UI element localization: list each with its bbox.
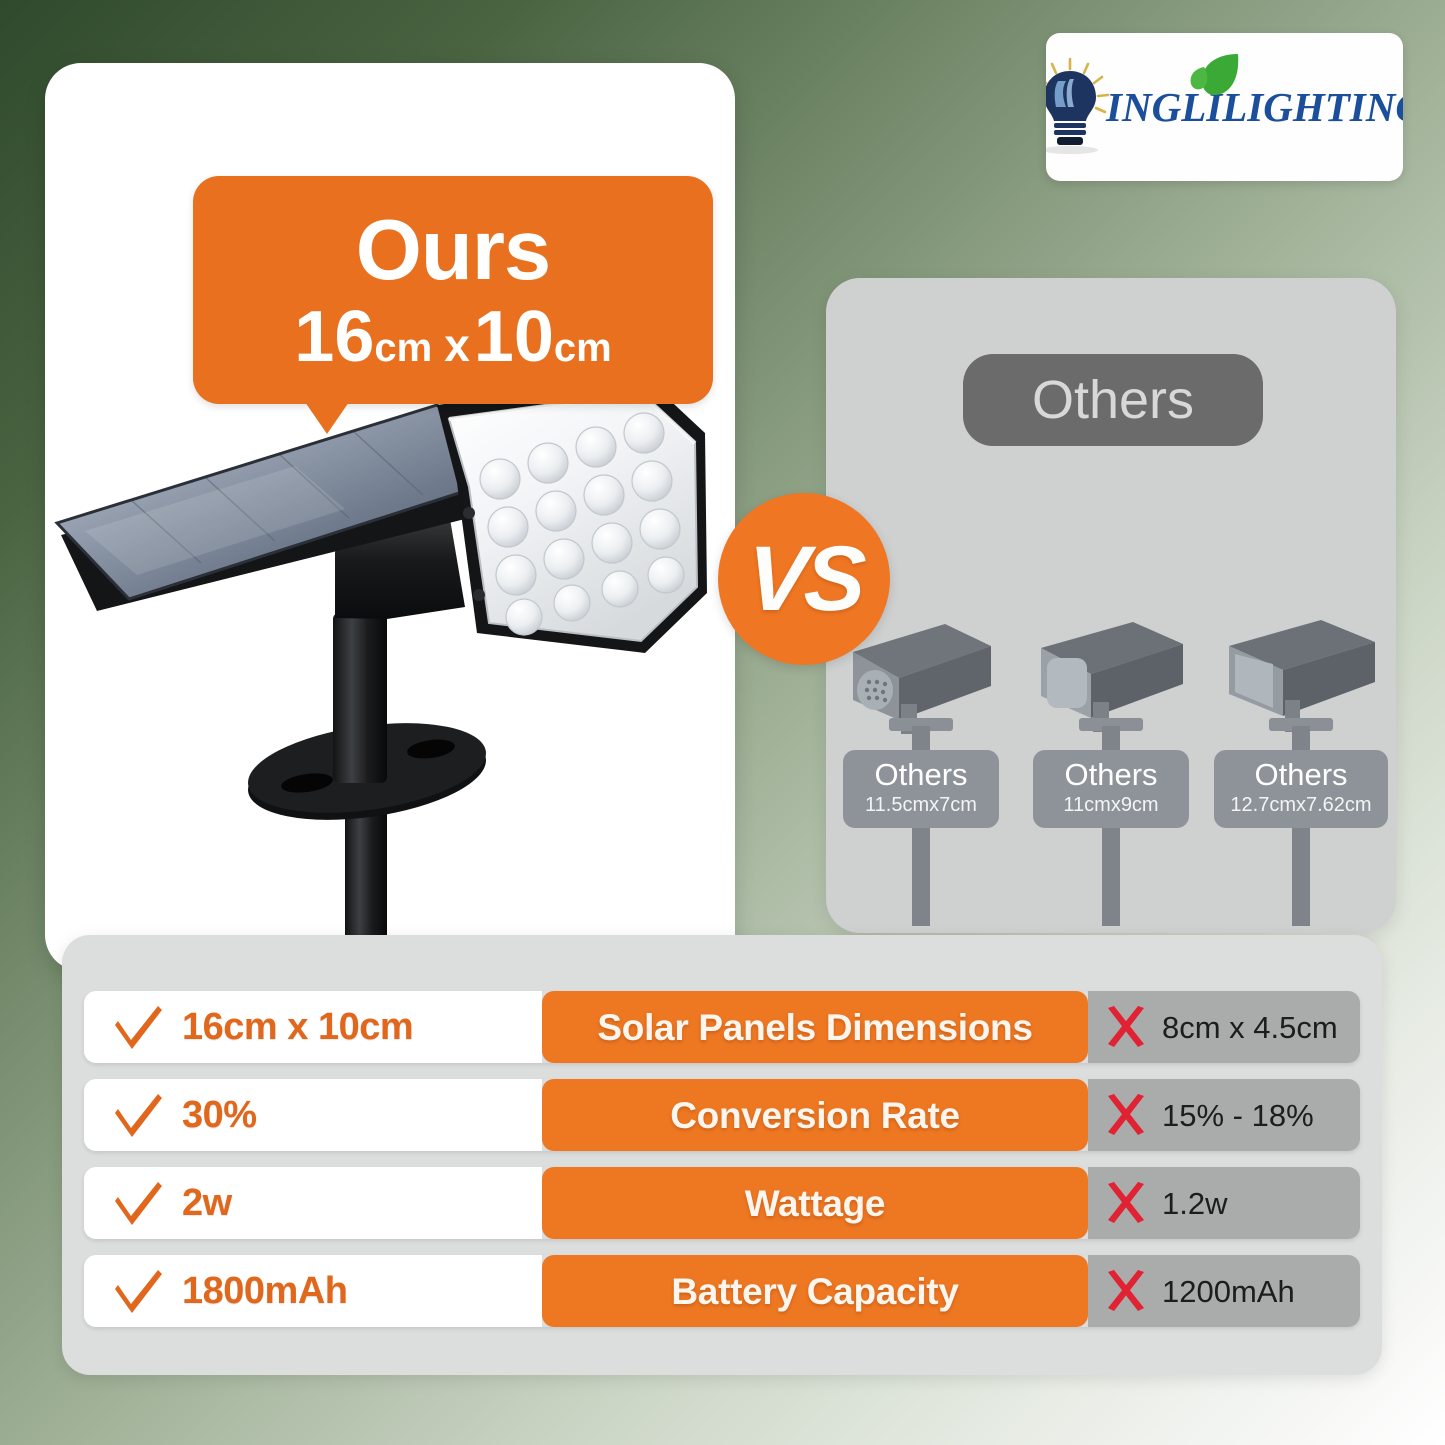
ours-dim-separator: x: [444, 322, 470, 368]
ours-dim-value-1: 16: [294, 301, 374, 373]
others-items-list: Others 11.5cmx7cm Others 11cmx9cm: [826, 608, 1396, 933]
other-item-label: Others 11.5cmx7cm: [843, 750, 999, 828]
ours-dimension-badge: Ours 16cmx10cm: [193, 176, 713, 404]
ours-dim-unit-2: cm: [554, 328, 612, 368]
versus-label: VS: [744, 533, 864, 625]
others-header-label: Others: [1032, 373, 1194, 427]
others-value: 1200mAh: [1162, 1276, 1295, 1307]
ours-cell: 1800mAh: [84, 1255, 542, 1327]
other-item-title: Others: [1218, 759, 1384, 792]
cross-icon: [1102, 1179, 1150, 1227]
ours-value: 16cm x 10cm: [182, 1008, 413, 1046]
feature-cell: Conversion Rate: [542, 1079, 1088, 1151]
ours-badge-title: Ours: [356, 208, 550, 293]
ours-value: 30%: [182, 1096, 257, 1134]
others-value: 1.2w: [1162, 1188, 1227, 1219]
other-item-title: Others: [1037, 759, 1185, 792]
ours-value: 1800mAh: [182, 1272, 347, 1310]
other-item-label: Others 12.7cmx7.62cm: [1214, 750, 1388, 828]
feature-cell: Wattage: [542, 1167, 1088, 1239]
other-item: Others 11.5cmx7cm: [841, 608, 1001, 928]
comparison-rows: 16cm x 10cm Solar Panels Dimensions 8cm …: [84, 991, 1360, 1343]
others-value: 8cm x 4.5cm: [1162, 1012, 1338, 1043]
other-item-title: Others: [847, 759, 995, 792]
ours-value: 2w: [182, 1184, 232, 1222]
ours-dim-value-2: 10: [474, 301, 554, 373]
check-icon: [110, 1263, 166, 1319]
other-item-label: Others 11cmx9cm: [1033, 750, 1189, 828]
comparison-table: 16cm x 10cm Solar Panels Dimensions 8cm …: [62, 935, 1382, 1375]
others-cell: 8cm x 4.5cm: [1088, 991, 1360, 1063]
others-header-badge: Others: [963, 354, 1263, 446]
other-item-dimensions: 12.7cmx7.62cm: [1218, 793, 1384, 817]
others-product-card: Others Oth: [826, 278, 1396, 933]
other-item-dimensions: 11.5cmx7cm: [847, 793, 995, 817]
check-icon: [110, 1087, 166, 1143]
leaf-icon: [1186, 51, 1244, 106]
table-row: 30% Conversion Rate 15% - 18%: [84, 1079, 1360, 1151]
others-cell: 15% - 18%: [1088, 1079, 1360, 1151]
table-row: 1800mAh Battery Capacity 1200mAh: [84, 1255, 1360, 1327]
versus-badge: VS: [718, 493, 890, 665]
solar-spotlight-icon: [45, 363, 735, 971]
feature-label: Conversion Rate: [670, 1097, 960, 1134]
ours-badge-dimensions: 16cmx10cm: [294, 301, 611, 373]
table-row: 2w Wattage 1.2w: [84, 1167, 1360, 1239]
brand-name: INGLILIGHTING: [1106, 87, 1403, 128]
other-item-dimensions: 11cmx9cm: [1037, 793, 1185, 817]
ours-cell: 30%: [84, 1079, 542, 1151]
ours-cell: 2w: [84, 1167, 542, 1239]
ours-cell: 16cm x 10cm: [84, 991, 542, 1063]
feature-cell: Solar Panels Dimensions: [542, 991, 1088, 1063]
other-item: Others 12.7cmx7.62cm: [1221, 608, 1381, 928]
ours-dim-unit-1: cm: [374, 328, 432, 368]
ours-product-card: Ours 16cmx10cm: [45, 63, 735, 971]
others-cell: 1.2w: [1088, 1167, 1360, 1239]
feature-label: Solar Panels Dimensions: [597, 1009, 1032, 1046]
feature-label: Battery Capacity: [671, 1273, 958, 1310]
other-item: Others 11cmx9cm: [1031, 608, 1191, 928]
check-icon: [110, 999, 166, 1055]
check-icon: [110, 1175, 166, 1231]
cross-icon: [1102, 1091, 1150, 1139]
brand-logo: INGLILIGHTING: [1046, 33, 1403, 181]
cross-icon: [1102, 1267, 1150, 1315]
others-value: 15% - 18%: [1162, 1100, 1314, 1131]
others-cell: 1200mAh: [1088, 1255, 1360, 1327]
table-row: 16cm x 10cm Solar Panels Dimensions 8cm …: [84, 991, 1360, 1063]
cross-icon: [1102, 1003, 1150, 1051]
feature-label: Wattage: [745, 1185, 885, 1222]
feature-cell: Battery Capacity: [542, 1255, 1088, 1327]
